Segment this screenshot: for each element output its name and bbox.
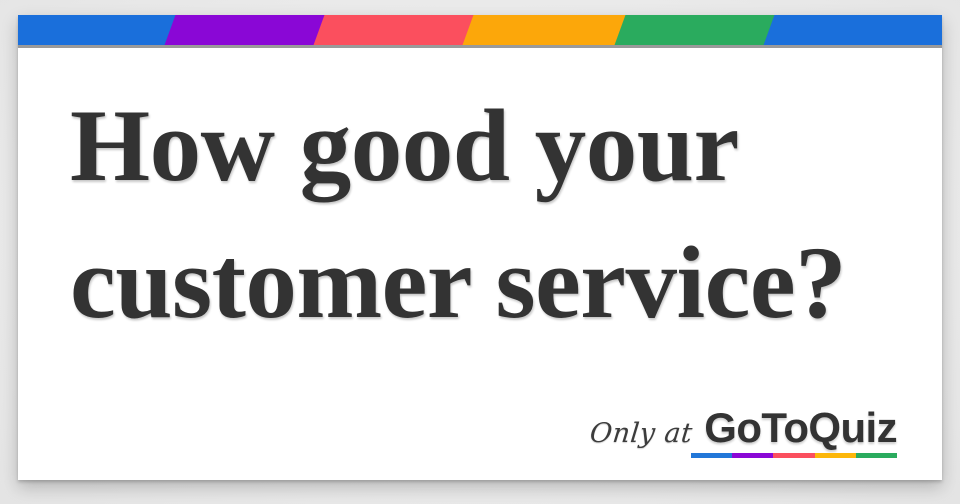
brand-wordmark: GoToQuiz (704, 406, 897, 450)
quiz-title-card-stage: How good your customer service? Only at … (0, 0, 960, 504)
brand-underline-segment-purple (732, 453, 773, 458)
brand-logo-row: Only at GoToQuiz (590, 406, 897, 450)
ribbon-segment-blue-2 (762, 15, 942, 45)
brand-underline-segment-orange (815, 453, 856, 458)
top-color-ribbon (18, 15, 942, 45)
brand-logo: Only at GoToQuiz (590, 406, 897, 458)
brand-underline-segment-green (856, 453, 897, 458)
quiz-card: How good your customer service? Only at … (18, 15, 942, 480)
brand-tagline: Only at (588, 418, 694, 449)
brand-underline-segment-blue (691, 453, 732, 458)
brand-underline-segment-red (773, 453, 814, 458)
brand-underline-bar (691, 453, 897, 458)
page-title: How good your customer service? (18, 48, 942, 352)
